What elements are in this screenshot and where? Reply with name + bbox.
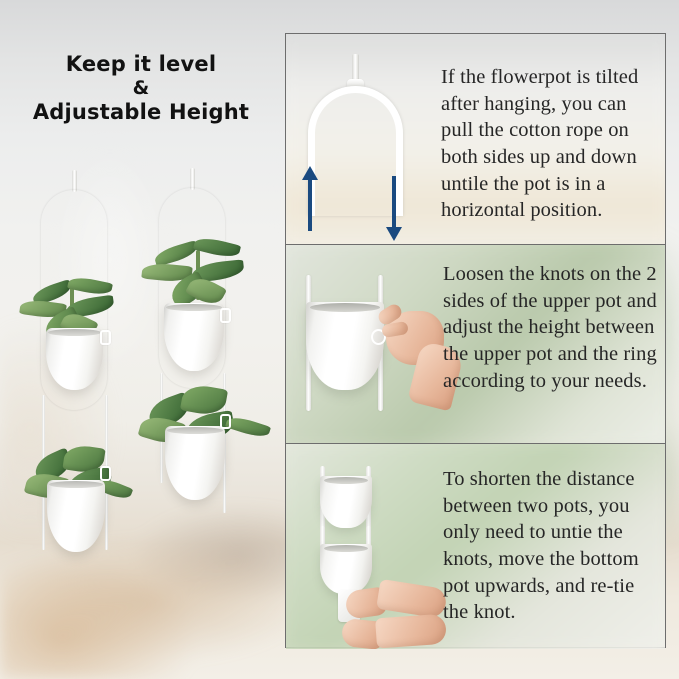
instruction-panel-grid: If the flowerpot is tilted after hanging… xyxy=(285,33,666,648)
leaf xyxy=(225,414,271,441)
right-planter-set xyxy=(148,168,273,528)
arrow-down-head xyxy=(386,227,402,241)
instruction-panel-1: If the flowerpot is tilted after hanging… xyxy=(286,34,665,244)
arrow-up-head xyxy=(302,166,318,180)
rope-clip-upper xyxy=(220,308,231,323)
infographic-canvas: Keep it level & Adjustable Height xyxy=(0,0,679,679)
left-planter-set xyxy=(30,170,150,570)
pot-lower xyxy=(165,426,225,500)
rope-left xyxy=(160,373,163,483)
arrow-up-icon xyxy=(308,179,312,231)
panel-3-illustration xyxy=(286,444,438,649)
pot xyxy=(306,302,384,390)
pot-upper xyxy=(320,476,372,528)
arrow-down-icon xyxy=(392,176,396,228)
ceiling-hook-icon xyxy=(190,168,195,190)
headline: Keep it level & Adjustable Height xyxy=(0,54,282,123)
instruction-panel-2: Loosen the knots on the 2 sides of the u… xyxy=(286,244,665,443)
panel-2-illustration xyxy=(286,245,438,443)
forearm-lower xyxy=(375,614,447,649)
panel-1-illustration xyxy=(286,34,438,244)
pot-lower xyxy=(320,544,372,594)
panel-1-text: If the flowerpot is tilted after hanging… xyxy=(441,64,661,224)
headline-line-3: Adjustable Height xyxy=(0,102,282,123)
rope-left xyxy=(42,395,45,550)
headline-line-1: Keep it level xyxy=(0,54,282,75)
ceiling-hook-icon xyxy=(72,170,77,192)
headline-ampersand: & xyxy=(0,79,282,98)
rope-clip-upper xyxy=(100,330,111,345)
leaf xyxy=(145,392,193,431)
instruction-panel-3: To shorten the distance between two pots… xyxy=(286,443,665,649)
panel-3-text: To shorten the distance between two pots… xyxy=(443,466,661,626)
panel-2-text: Loosen the knots on the 2 sides of the u… xyxy=(443,261,661,394)
rope-clip-lower xyxy=(100,466,111,481)
forearm-upper xyxy=(376,579,448,619)
hanger-arch xyxy=(308,86,403,216)
rope-clip-lower xyxy=(220,414,231,429)
pot-lower xyxy=(47,480,105,552)
